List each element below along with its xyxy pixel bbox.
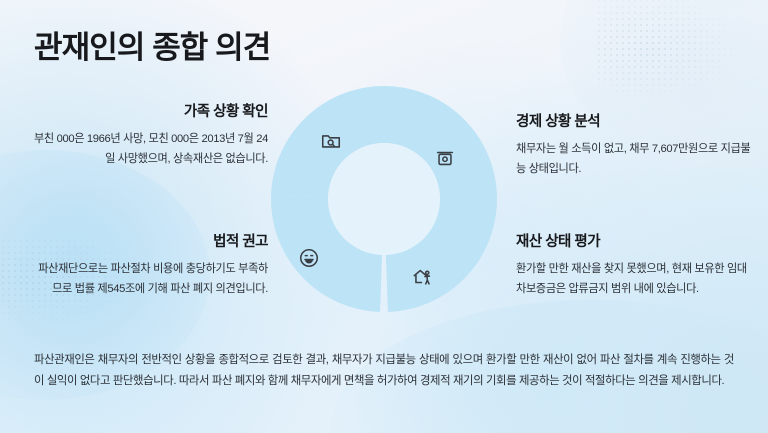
atm-cash-icon [434, 147, 456, 169]
info-block-body: 환가할 만한 재산을 찾지 못했으며, 현재 보유한 임대차보증금은 압류금지 … [516, 260, 752, 300]
smiling-face-icon [298, 247, 320, 269]
info-block-body: 파산재단으로는 파산절차 비용에 충당하기도 부족하므로 법률 제545조에 기… [32, 260, 268, 300]
donut-hole [328, 143, 440, 255]
slide-canvas: 관재인의 종합 의견 [0, 0, 768, 433]
folder-search-icon [320, 130, 342, 152]
info-block-asset: 재산 상태 평가 환가할 만한 재산을 찾지 못했으며, 현재 보유한 임대차보… [516, 230, 752, 300]
info-block-body: 부친 000은 1966년 사망, 모친 000은 2013년 7월 24일 사… [32, 130, 268, 170]
info-block-title: 법적 권고 [32, 230, 268, 251]
info-block-title: 재산 상태 평가 [516, 230, 752, 251]
info-block-body: 채무자는 월 소득이 없고, 채무 7,607만원으로 지급불능 상태입니다. [516, 140, 752, 180]
summary-paragraph: 파산관재인은 채무자의 전반적인 상황을 종합적으로 검토한 결과, 채무자가 … [34, 350, 734, 392]
house-person-icon [412, 266, 434, 288]
donut-chart [268, 83, 500, 315]
info-block-family: 가족 상황 확인 부친 000은 1966년 사망, 모친 000은 2013년… [32, 100, 268, 170]
page-title: 관재인의 종합 의견 [34, 22, 270, 67]
info-block-economy: 경제 상황 분석 채무자는 월 소득이 없고, 채무 7,607만원으로 지급불… [516, 110, 752, 180]
info-block-title: 경제 상황 분석 [516, 110, 752, 131]
info-block-legal: 법적 권고 파산재단으로는 파산절차 비용에 충당하기도 부족하므로 법률 제5… [32, 230, 268, 300]
info-block-title: 가족 상황 확인 [32, 100, 268, 121]
decorative-dot-pattern-top-right [596, 0, 746, 96]
